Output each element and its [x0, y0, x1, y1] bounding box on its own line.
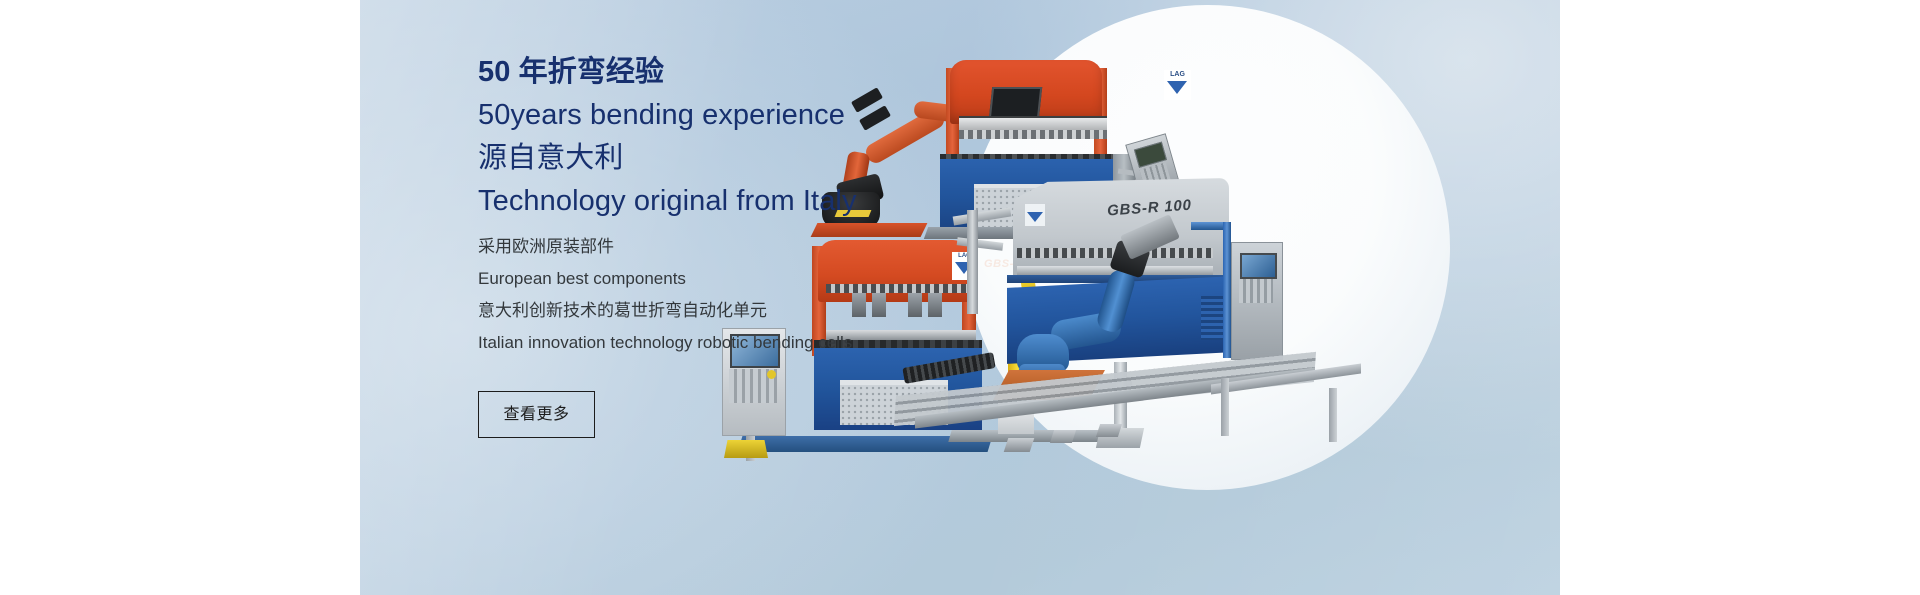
lag-logo-text: LAG — [1164, 70, 1191, 80]
press-tooling — [959, 130, 1107, 139]
table-leg-left — [1221, 378, 1229, 436]
table-leg-right — [1329, 388, 1337, 442]
hero-headline: 50 年折弯经验 50years bending experience 源自意大… — [478, 58, 948, 216]
operator-console — [1231, 242, 1283, 360]
screenshot-root: LAG — [0, 0, 1920, 595]
yellow-floor-pallet — [724, 440, 768, 458]
subhead-line-1: 采用欧洲原装部件 — [478, 238, 948, 255]
gantry-arm-upper — [953, 208, 1012, 226]
safety-guard-post — [1223, 222, 1231, 358]
hero-banner: LAG — [360, 0, 1560, 595]
machine-gbs-r-100: GBS-R 100 — [955, 178, 1315, 408]
view-more-button[interactable]: 查看更多 — [478, 391, 595, 438]
subhead-line-2: European best components — [478, 270, 948, 287]
floor-fixture-3 — [1096, 424, 1122, 437]
headline-line-3: 源自意大利 — [478, 144, 948, 173]
gantry-column — [967, 210, 978, 314]
floor-fixture-1 — [1004, 438, 1035, 452]
headline-line-2: 50years bending experience — [478, 101, 948, 130]
console-screen — [1240, 253, 1277, 279]
lag-logo-icon — [1025, 204, 1045, 226]
hero-subheadline: 采用欧洲原装部件 European best components 意大利创新技… — [478, 238, 948, 351]
subhead-line-3: 意大利创新技术的葛世折弯自动化单元 — [478, 302, 948, 319]
gantry-arm-lower — [957, 237, 1004, 251]
hero-text-column: 50 年折弯经验 50years bending experience 源自意大… — [478, 58, 948, 438]
floor-fixture-2 — [1050, 430, 1076, 443]
console-keypad — [1239, 279, 1273, 303]
lag-logo-icon: LAG — [1164, 70, 1191, 100]
headline-line-1: 50 年折弯经验 — [478, 58, 948, 87]
subhead-line-4: Italian innovation technology robotic be… — [478, 334, 948, 351]
support-table — [1211, 374, 1361, 444]
headline-line-4: Technology original from Italy — [478, 187, 948, 216]
